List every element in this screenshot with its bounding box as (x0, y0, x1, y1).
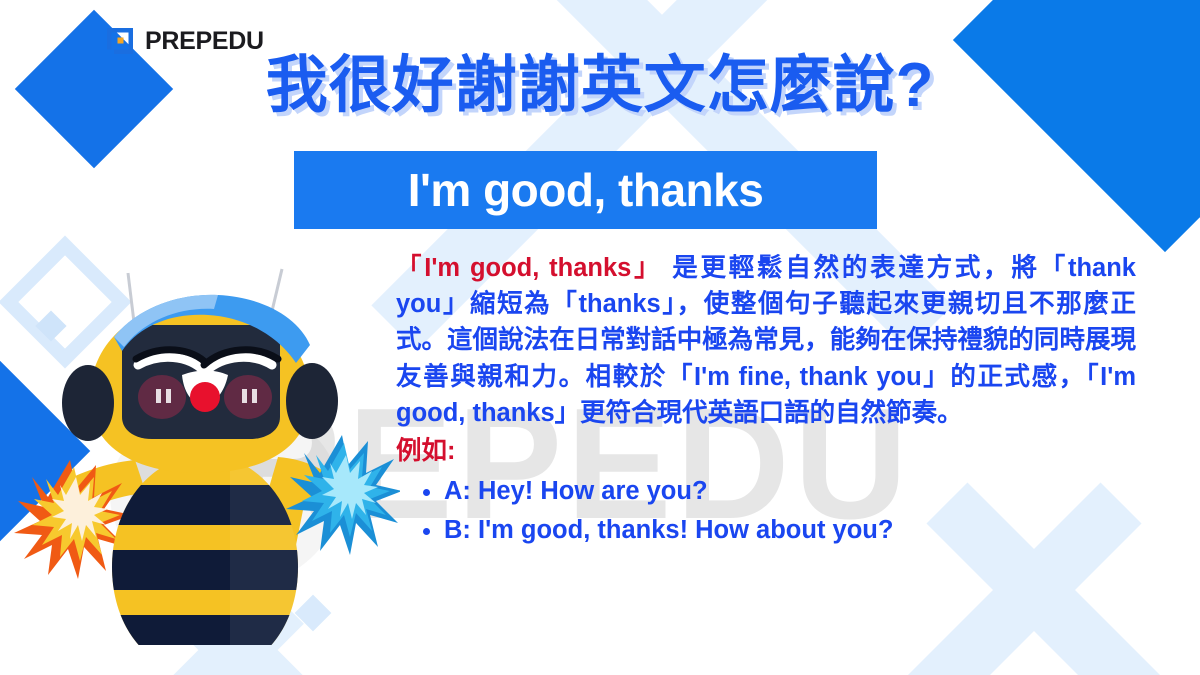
example-label: 例如: (396, 433, 1136, 469)
list-item: B: I'm good, thanks! How about you? (444, 512, 1136, 549)
example-list: A: Hey! How are you? B: I'm good, thanks… (396, 473, 1136, 549)
explanation-block: 「I'm good, thanks」 是更輕鬆自然的表達方式，將「thank y… (396, 250, 1136, 551)
quoted-phrase: 「I'm good, thanks」 (396, 254, 662, 282)
page-title: 我很好謝謝英文怎麼說? (0, 53, 1200, 118)
list-item: A: Hey! How are you? (444, 473, 1136, 510)
explanation-paragraph: 「I'm good, thanks」 是更輕鬆自然的表達方式，將「thank y… (396, 250, 1136, 431)
square-top-right-shape (953, 0, 1200, 252)
phrase-banner: I'm good, thanks (294, 151, 877, 229)
slide-canvas: PREPEDU PREPEDU 我很好謝謝英文怎麼說? I'm good, th… (0, 0, 1200, 675)
phrase-banner-text: I'm good, thanks (408, 163, 764, 217)
brand-logo-text: PREPEDU (145, 27, 264, 56)
mascot-cheerleader-bee (10, 245, 400, 645)
